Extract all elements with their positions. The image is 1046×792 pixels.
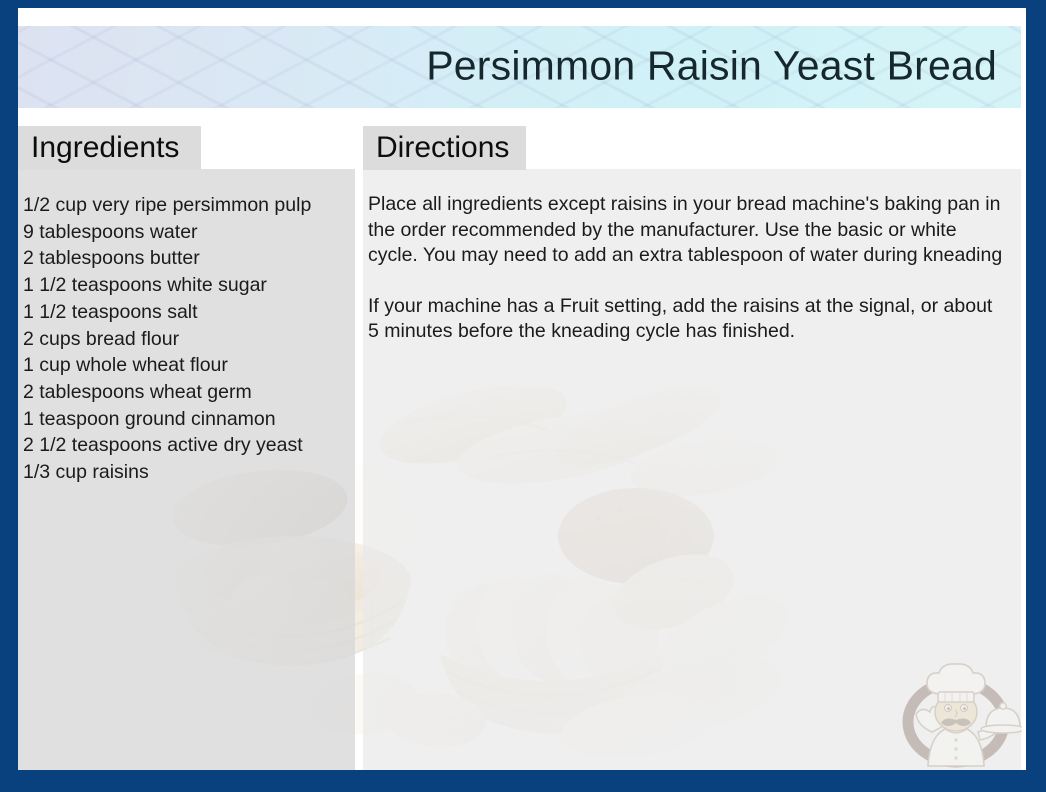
ingredients-list: 1/2 cup very ripe persimmon pulp 9 table… [23,192,353,486]
list-item: 1/3 cup raisins [23,459,353,486]
list-item: 1 cup whole wheat flour [23,352,353,379]
directions-text: Place all ingredients except raisins in … [368,192,1008,345]
directions-tab-label: Directions [376,133,509,163]
list-item: 2 1/2 teaspoons active dry yeast [23,432,353,459]
list-item: 2 tablespoons butter [23,245,353,272]
list-item: 1 1/2 teaspoons white sugar [23,272,353,299]
list-item: 1/2 cup very ripe persimmon pulp [23,192,353,219]
ingredients-tab-label: Ingredients [31,133,179,163]
list-item: 9 tablespoons water [23,219,353,246]
list-item: 2 cups bread flour [23,326,353,353]
ingredients-tab: Ingredients [18,126,201,170]
recipe-card-slide: Persimmon Raisin Yeast Bread [0,0,1046,792]
directions-paragraph: Place all ingredients except raisins in … [368,192,1008,269]
directions-tab: Directions [363,126,526,170]
list-item: 1 1/2 teaspoons salt [23,299,353,326]
list-item: 1 teaspoon ground cinnamon [23,406,353,433]
page-title: Persimmon Raisin Yeast Bread [426,43,997,90]
list-item: 2 tablespoons wheat germ [23,379,353,406]
directions-paragraph: If your machine has a Fruit setting, add… [368,294,1008,345]
title-banner: Persimmon Raisin Yeast Bread [18,26,1021,108]
